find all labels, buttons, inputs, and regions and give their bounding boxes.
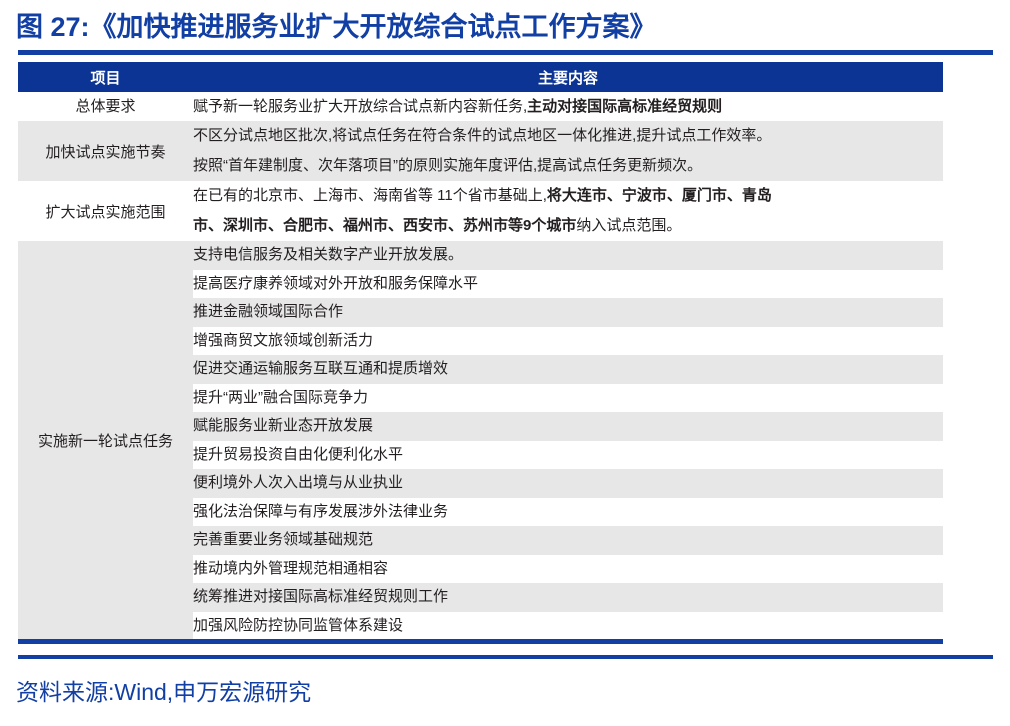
page-title: 图 27:《加快推进服务业扩大开放综合试点工作方案》 — [16, 8, 657, 46]
task-item: 推进金融领域国际合作 — [193, 298, 943, 327]
table-body: 总体要求 赋予新一轮服务业扩大开放综合试点新内容新任务,主动对接国际高标准经贸规… — [18, 92, 943, 640]
text-run: 赋予新一轮服务业扩大开放综合试点新内容新任务, — [193, 98, 527, 115]
section-divider-rule — [18, 655, 993, 659]
figure-page: 图 27:《加快推进服务业扩大开放综合试点工作方案》 项目 主要内容 总体要求 … — [0, 0, 1010, 726]
title-underline-rule — [18, 50, 993, 55]
table-row: 总体要求 赋予新一轮服务业扩大开放综合试点新内容新任务,主动对接国际高标准经贸规… — [18, 92, 943, 121]
table-row: 实施新一轮试点任务 支持电信服务及相关数字产业开放发展。 — [18, 241, 943, 270]
table-row: 加快试点实施节奏 不区分试点地区批次,将试点任务在符合条件的试点地区一体化推进,… — [18, 121, 943, 181]
row-item-label: 加快试点实施节奏 — [18, 121, 193, 181]
content-line: 不区分试点地区批次,将试点任务在符合条件的试点地区一体化推进,提升试点工作效率。 — [193, 121, 943, 151]
task-item: 便利境外人次入出境与从业执业 — [193, 469, 943, 498]
row-item-label: 总体要求 — [18, 92, 193, 121]
table-header: 项目 主要内容 — [18, 62, 943, 92]
row-content: 赋予新一轮服务业扩大开放综合试点新内容新任务,主动对接国际高标准经贸规则 — [193, 92, 943, 121]
task-item: 推动境内外管理规范相通相容 — [193, 555, 943, 584]
row-content: 不区分试点地区批次,将试点任务在符合条件的试点地区一体化推进,提升试点工作效率。… — [193, 121, 943, 181]
table-bottom-rule — [18, 639, 943, 644]
task-item: 促进交通运输服务互联互通和提质增效 — [193, 355, 943, 384]
table-header-row: 项目 主要内容 — [18, 62, 943, 92]
column-header-content: 主要内容 — [193, 62, 943, 92]
task-item: 统筹推进对接国际高标准经贸规则工作 — [193, 583, 943, 612]
text-run-bold: 市、深圳市、合肥市、福州市、西安市、苏州市等9个城市 — [193, 217, 576, 234]
column-header-item: 项目 — [18, 62, 193, 92]
source-note: 资料来源:Wind,申万宏源研究 — [16, 676, 311, 708]
task-item: 加强风险防控协同监管体系建设 — [193, 612, 943, 641]
task-item: 提高医疗康养领域对外开放和服务保障水平 — [193, 270, 943, 299]
task-item: 强化法治保障与有序发展涉外法律业务 — [193, 498, 943, 527]
content-line: 在已有的北京市、上海市、海南省等 11个省市基础上,将大连市、宁波市、厦门市、青… — [193, 181, 943, 211]
task-item: 支持电信服务及相关数字产业开放发展。 — [193, 241, 943, 270]
text-run-bold: 将大连市、宁波市、厦门市、青岛 — [547, 187, 772, 204]
task-item: 提升“两业”融合国际竞争力 — [193, 384, 943, 413]
row-item-label: 扩大试点实施范围 — [18, 181, 193, 241]
policy-table: 项目 主要内容 总体要求 赋予新一轮服务业扩大开放综合试点新内容新任务,主动对接… — [18, 62, 943, 640]
task-item: 完善重要业务领域基础规范 — [193, 526, 943, 555]
text-run-bold: 主动对接国际高标准经贸规则 — [527, 98, 722, 115]
text-run: 纳入试点范围。 — [576, 217, 681, 234]
text-run: 在已有的北京市、上海市、海南省等 11个省市基础上, — [193, 187, 547, 204]
content-line: 市、深圳市、合肥市、福州市、西安市、苏州市等9个城市纳入试点范围。 — [193, 211, 943, 241]
task-item: 提升贸易投资自由化便利化水平 — [193, 441, 943, 470]
table-row: 扩大试点实施范围 在已有的北京市、上海市、海南省等 11个省市基础上,将大连市、… — [18, 181, 943, 241]
row-item-label-tasks: 实施新一轮试点任务 — [18, 241, 193, 640]
row-content: 在已有的北京市、上海市、海南省等 11个省市基础上,将大连市、宁波市、厦门市、青… — [193, 181, 943, 241]
content-line: 按照“首年建制度、次年落项目”的原则实施年度评估,提高试点任务更新频次。 — [193, 151, 943, 181]
task-item: 增强商贸文旅领域创新活力 — [193, 327, 943, 356]
task-item: 赋能服务业新业态开放发展 — [193, 412, 943, 441]
